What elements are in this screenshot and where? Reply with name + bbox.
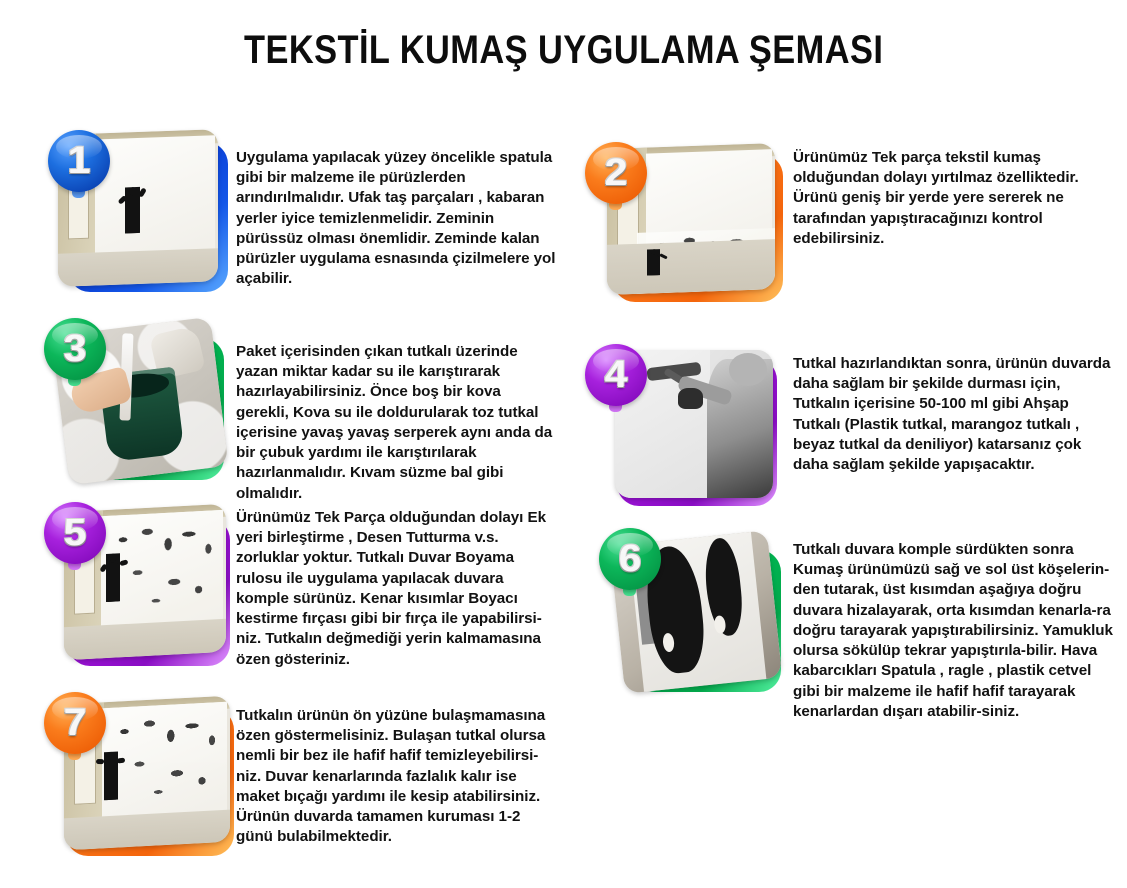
- step-3-number-badge: 3: [44, 318, 106, 380]
- step-7-text: Tutkalın ürünün ön yüzüne bulaşmamasına …: [236, 706, 556, 848]
- worker-silhouette: [125, 187, 140, 234]
- step-6-number-badge: 6: [599, 528, 661, 590]
- step-7-number: 7: [42, 692, 109, 754]
- glove-icon: [678, 388, 703, 409]
- step-4-text: Tutkal hazırlandıktan sonra, ürünün duva…: [793, 354, 1115, 475]
- step-7-number-badge: 7: [44, 692, 106, 754]
- step-5-number-badge: 5: [44, 502, 106, 564]
- step-3-number: 3: [42, 318, 109, 380]
- worker-silhouette: [647, 249, 660, 275]
- step-5-number: 5: [42, 502, 109, 564]
- step-3-text: Paket içerisinden çıkan tutkalı üzerinde…: [236, 342, 556, 504]
- step-2-text: Ürünümüz Tek parça tekstil kumaş olduğun…: [793, 148, 1113, 249]
- step-2-number-badge: 2: [585, 142, 647, 204]
- step-6-text: Tutkalı duvara komple sürdükten sonra Ku…: [793, 540, 1115, 722]
- worker-silhouette: [104, 751, 118, 800]
- page-title: TEKSTİL KUMAŞ UYGULAMA ŞEMASI: [244, 28, 883, 73]
- step-6-number: 6: [597, 528, 664, 590]
- step-1-number-badge: 1: [48, 130, 110, 192]
- step-2-number: 2: [583, 142, 650, 204]
- step-1-text: Uygulama yapılacak yüzey öncelikle spatu…: [236, 148, 556, 290]
- step-5-text: Ürünümüz Tek Parça olduğundan dolayı Ek …: [236, 508, 556, 670]
- page-title-bar: TEKSTİL KUMAŞ UYGULAMA ŞEMASI: [0, 28, 1127, 73]
- step-1-number: 1: [46, 130, 113, 192]
- step-4-number: 4: [583, 344, 650, 406]
- step-4-number-badge: 4: [585, 344, 647, 406]
